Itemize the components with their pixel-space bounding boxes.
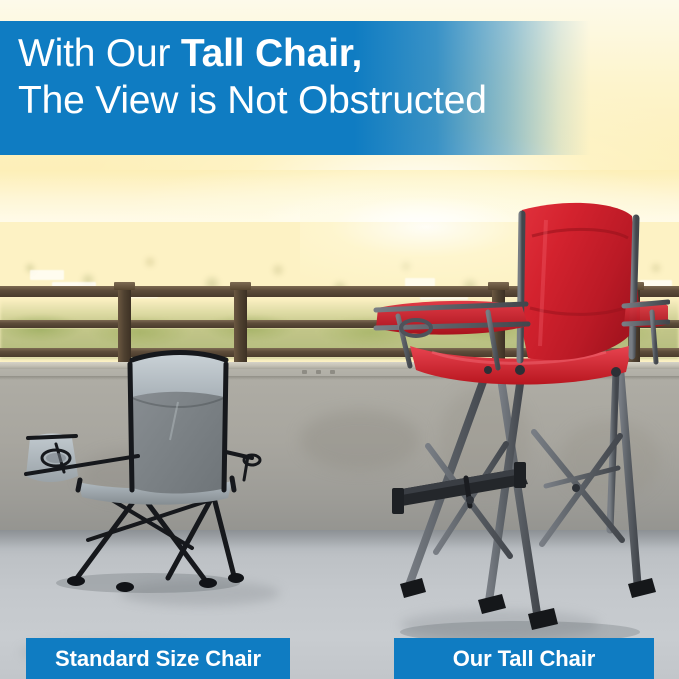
rail-post-cap [114,282,135,290]
our-tall-chair [370,200,670,645]
label-our-tall-chair-text: Our Tall Chair [453,646,595,672]
wall-bolt [330,370,335,374]
rail-post-cap [230,282,251,290]
standard-size-chair [20,340,310,600]
label-standard-size-chair: Standard Size Chair [26,638,290,679]
label-standard-size-chair-text: Standard Size Chair [55,646,261,672]
headline-text: With Our Tall Chair, The View is Not Obs… [18,30,618,124]
headline-line1-bold: Tall Chair, [181,32,362,75]
wall-bolt [316,370,321,374]
label-our-tall-chair: Our Tall Chair [394,638,654,679]
product-photo [0,170,679,679]
headline-line1-regular: With Our [18,32,181,75]
tall-chair-backrest [520,203,640,360]
product-infographic: With Our Tall Chair, The View is Not Obs… [0,0,679,679]
headline-line2: The View is Not Obstructed [18,77,618,124]
standard-chair-headrest [132,354,224,397]
